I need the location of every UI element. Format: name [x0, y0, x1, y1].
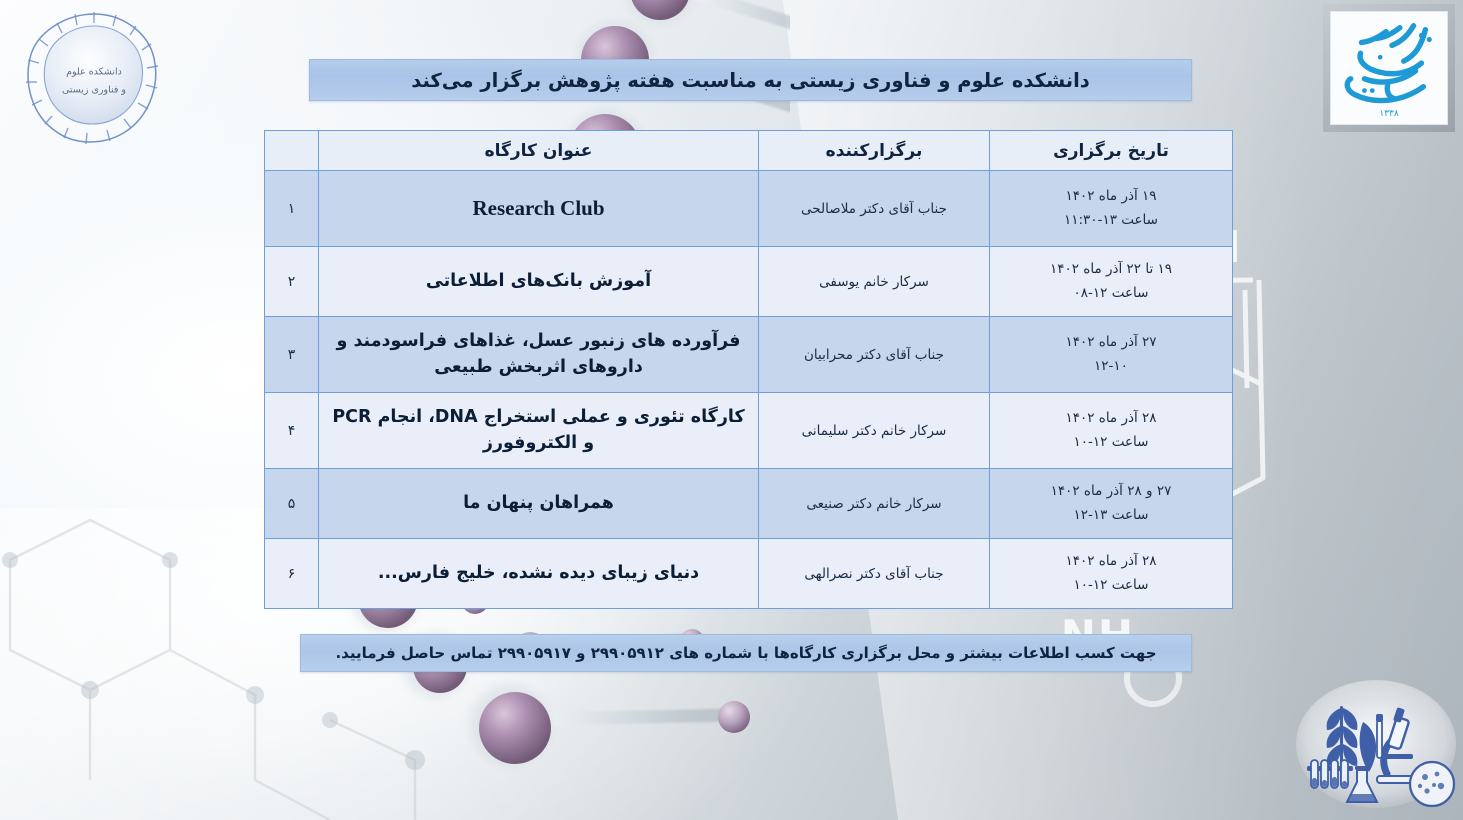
- cell-presenter: سرکار خانم دکتر صنیعی: [759, 469, 990, 539]
- cell-index: ۱: [265, 171, 319, 247]
- cell-workshop-title: کارگاه تئوری و عملی استخراج DNA، انجام P…: [319, 393, 759, 469]
- date-line-2: ساعت ۱۲-۱۰: [998, 431, 1224, 455]
- faculty-seal-text: دانشکده علوم و فناوری زیستی: [18, 63, 170, 98]
- footer-contact-note: جهت کسب اطلاعات بیشتر و محل برگزاری کارگ…: [335, 644, 1156, 662]
- date-line-2: ساعت ۱۳-۱۲: [998, 504, 1224, 528]
- cell-presenter: جناب آقای دکتر ملاصالحی: [759, 171, 990, 247]
- date-line-1: ۲۷ و ۲۸ آذر ماه ۱۴۰۲: [998, 480, 1224, 504]
- date-line-1: ۱۹ آذر ماه ۱۴۰۲: [998, 185, 1224, 209]
- faculty-seal: دانشکده علوم و فناوری زیستی: [18, 10, 170, 152]
- faculty-seal-line2: و فناوری زیستی: [18, 81, 170, 99]
- table-row: ۱۹ آذر ماه ۱۴۰۲ساعت ۱۳-۱۱:۳۰جناب آقای دک…: [265, 171, 1233, 247]
- date-line-2: ساعت ۱۲-۱۰: [998, 574, 1224, 598]
- cell-date: ۱۹ آذر ماه ۱۴۰۲ساعت ۱۳-۱۱:۳۰: [990, 171, 1233, 247]
- header-banner-title: دانشکده علوم و فناوری زیستی به مناسبت هف…: [411, 69, 1090, 92]
- biotechnology-illustration: [1291, 678, 1461, 816]
- cell-date: ۲۸ آذر ماه ۱۴۰۲ساعت ۱۲-۱۰: [990, 539, 1233, 609]
- date-line-2: ساعت ۱۲-۰۸: [998, 282, 1224, 306]
- date-line-1: ۲۸ آذر ماه ۱۴۰۲: [998, 550, 1224, 574]
- poster-canvas: CH 3 H NH: [0, 0, 1463, 820]
- petri-dish-icon: [1410, 762, 1454, 806]
- cell-date: ۲۷ آذر ماه ۱۴۰۲۱۲-۱۰: [990, 317, 1233, 393]
- cell-presenter: جناب آقای دکتر محرابیان: [759, 317, 990, 393]
- cell-date: ۱۹ تا ۲۲ آذر ماه ۱۴۰۲ساعت ۱۲-۰۸: [990, 247, 1233, 317]
- table-row: ۲۸ آذر ماه ۱۴۰۲ساعت ۱۲-۱۰سرکار خانم دکتر…: [265, 393, 1233, 469]
- university-calligraphy-icon: [1331, 12, 1447, 124]
- workshops-table: تاریخ برگزاری برگزارکننده عنوان کارگاه ۱…: [264, 130, 1233, 609]
- cell-presenter: سرکار خانم دکتر سلیمانی: [759, 393, 990, 469]
- faculty-seal-line1: دانشکده علوم: [18, 63, 170, 81]
- cell-workshop-title: آموزش بانک‌های اطلاعاتی: [319, 247, 759, 317]
- column-header-index: [265, 131, 319, 171]
- cell-workshop-title: Research Club: [319, 171, 759, 247]
- cell-workshop-title: دنیای زیبای دیده نشده، خلیج فارس...: [319, 539, 759, 609]
- date-line-2: ۱۲-۱۰: [998, 355, 1224, 379]
- table-row: ۲۸ آذر ماه ۱۴۰۲ساعت ۱۲-۱۰جناب آقای دکتر …: [265, 539, 1233, 609]
- shahid-beheshti-university-logo: ۱۳۳۸: [1323, 4, 1455, 132]
- cell-presenter: سرکار خانم یوسفی: [759, 247, 990, 317]
- table-row: ۱۹ تا ۲۲ آذر ماه ۱۴۰۲ساعت ۱۲-۰۸سرکار خان…: [265, 247, 1233, 317]
- date-line-1: ۲۸ آذر ماه ۱۴۰۲: [998, 407, 1224, 431]
- pipette-icon: [1376, 714, 1383, 758]
- date-line-1: ۱۹ تا ۲۲ آذر ماه ۱۴۰۲: [998, 258, 1224, 282]
- cell-workshop-title: همراهان پنهان ما: [319, 469, 759, 539]
- column-header-date: تاریخ برگزاری: [990, 131, 1233, 171]
- column-header-presenter: برگزارکننده: [759, 131, 990, 171]
- cell-date: ۲۷ و ۲۸ آذر ماه ۱۴۰۲ساعت ۱۳-۱۲: [990, 469, 1233, 539]
- university-founding-year: ۱۳۳۸: [1331, 109, 1447, 119]
- cell-index: ۳: [265, 317, 319, 393]
- cell-index: ۶: [265, 539, 319, 609]
- biotech-graphic: [1291, 678, 1461, 816]
- university-logo-inner: ۱۳۳۸: [1330, 11, 1448, 125]
- cell-index: ۵: [265, 469, 319, 539]
- cell-index: ۲: [265, 247, 319, 317]
- date-line-2: ساعت ۱۳-۱۱:۳۰: [998, 209, 1224, 233]
- table-row: ۲۷ و ۲۸ آذر ماه ۱۴۰۲ساعت ۱۳-۱۲سرکار خانم…: [265, 469, 1233, 539]
- cell-presenter: جناب آقای دکتر نصرالهی: [759, 539, 990, 609]
- cell-workshop-title: فرآورده های زنبور عسل، غذاهای فراسودمند …: [319, 317, 759, 393]
- date-line-1: ۲۷ آذر ماه ۱۴۰۲: [998, 331, 1224, 355]
- table-row: ۲۷ آذر ماه ۱۴۰۲۱۲-۱۰جناب آقای دکتر محراب…: [265, 317, 1233, 393]
- table-header: تاریخ برگزاری برگزارکننده عنوان کارگاه: [265, 131, 1233, 171]
- column-header-title: عنوان کارگاه: [319, 131, 759, 171]
- header-banner: دانشکده علوم و فناوری زیستی به مناسبت هف…: [309, 59, 1192, 101]
- footer-banner: جهت کسب اطلاعات بیشتر و محل برگزاری کارگ…: [300, 634, 1192, 672]
- table-body: ۱۹ آذر ماه ۱۴۰۲ساعت ۱۳-۱۱:۳۰جناب آقای دک…: [265, 171, 1233, 609]
- cell-date: ۲۸ آذر ماه ۱۴۰۲ساعت ۱۲-۱۰: [990, 393, 1233, 469]
- table-header-row: تاریخ برگزاری برگزارکننده عنوان کارگاه: [265, 131, 1233, 171]
- cell-index: ۴: [265, 393, 319, 469]
